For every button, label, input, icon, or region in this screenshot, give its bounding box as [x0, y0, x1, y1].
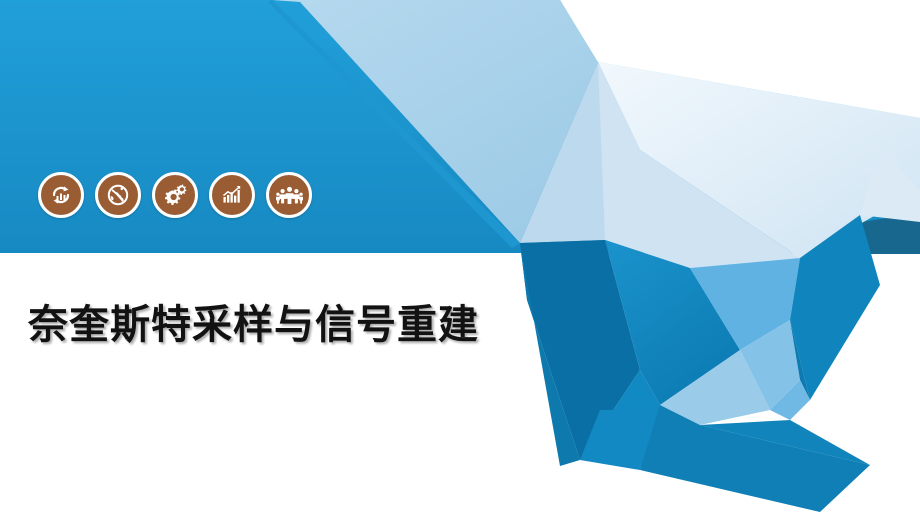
decorative-polygon-background: [0, 0, 920, 518]
tagline-text: 数智创新 变革未来: [707, 28, 898, 58]
gears-icon[interactable]: [152, 172, 198, 218]
feature-icon-row: [38, 172, 312, 218]
people-group-icon[interactable]: [266, 172, 312, 218]
globe-icon[interactable]: [95, 172, 141, 218]
page-title: 奈奎斯特采样与信号重建: [28, 292, 479, 350]
bar-chart-icon[interactable]: [209, 172, 255, 218]
recycle-growth-glyph: [48, 182, 74, 208]
people-group-glyph: [276, 182, 303, 208]
gears-glyph: [162, 182, 189, 209]
globe-glyph: [105, 182, 131, 208]
bar-chart-glyph: [219, 182, 245, 208]
recycle-growth-icon[interactable]: [38, 172, 84, 218]
title-slide: 数智创新 变革未来: [0, 0, 920, 518]
